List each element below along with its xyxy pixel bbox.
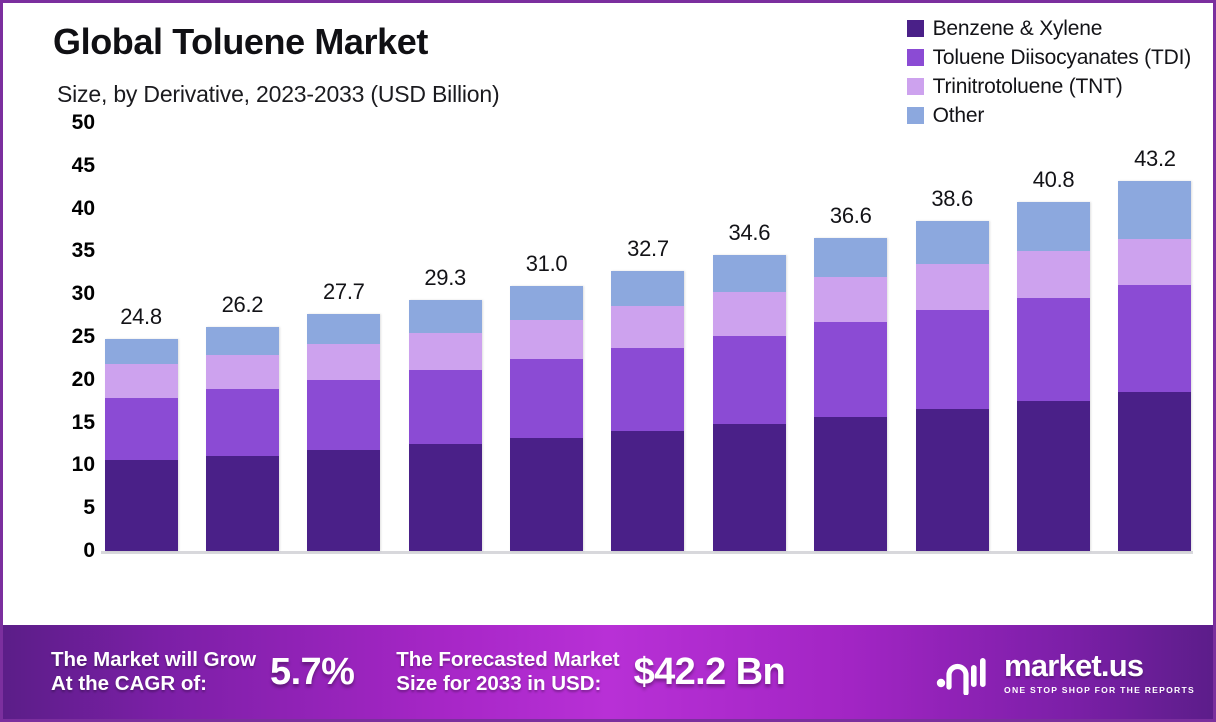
bar-segment	[1017, 401, 1090, 551]
bar-segment	[916, 264, 989, 310]
bar-stack	[1017, 202, 1090, 551]
y-axis-tick-label: 35	[72, 239, 95, 263]
cagr-caption: The Market will Grow At the CAGR of:	[51, 648, 256, 696]
legend-item[interactable]: Trinitrotoluene (TNT)	[907, 73, 1123, 100]
x-axis-baseline	[101, 551, 1193, 554]
bar-segment	[1017, 202, 1090, 252]
legend-swatch-icon	[907, 78, 924, 95]
legend-label: Toluene Diisocyanates (TDI)	[933, 46, 1191, 70]
bar-segment	[611, 431, 684, 551]
brand-logo[interactable]: market.us ONE STOP SHOP FOR THE REPORTS	[935, 649, 1195, 695]
forecast-size-caption: The Forecasted Market Size for 2033 in U…	[396, 648, 619, 696]
bar-segment	[814, 322, 887, 416]
footer-banner: The Market will Grow At the CAGR of: 5.7…	[3, 625, 1213, 719]
chart-plot-area: 05101520253035404550 24.826.227.729.331.…	[3, 123, 1213, 618]
bar-segment	[1017, 298, 1090, 401]
bar-series-container: 24.826.227.729.331.032.734.636.638.640.8…	[103, 123, 1193, 551]
bar-stack	[409, 300, 482, 551]
bar-total-label: 40.8	[1033, 167, 1075, 193]
brand-wordmark: market.us ONE STOP SHOP FOR THE REPORTS	[1004, 650, 1195, 695]
bar-column[interactable]: 36.6	[813, 123, 889, 551]
bar-total-label: 38.6	[931, 186, 973, 212]
y-axis-tick-label: 15	[72, 411, 95, 435]
bar-total-label: 31.0	[526, 251, 568, 277]
bar-segment	[1118, 285, 1191, 392]
bar-segment	[307, 344, 380, 380]
bar-segment	[409, 300, 482, 333]
bar-total-label: 29.3	[424, 265, 466, 291]
bar-total-label: 43.2	[1134, 146, 1176, 172]
cagr-value: 5.7%	[270, 651, 354, 694]
bar-segment	[409, 370, 482, 444]
brand-tagline: ONE STOP SHOP FOR THE REPORTS	[1004, 685, 1195, 695]
bar-segment	[510, 438, 583, 551]
bar-stack	[105, 339, 178, 551]
y-axis-tick-label: 45	[72, 154, 95, 178]
bar-segment	[1118, 392, 1191, 551]
bar-segment	[409, 333, 482, 371]
chart-legend: Benzene & XyleneToluene Diisocyanates (T…	[907, 15, 1191, 129]
bar-stack	[307, 314, 380, 551]
legend-item[interactable]: Benzene & Xylene	[907, 15, 1103, 42]
chart-subtitle: Size, by Derivative, 2023-2033 (USD Bill…	[57, 81, 499, 108]
bar-segment	[916, 310, 989, 408]
bar-column[interactable]: 32.7	[610, 123, 686, 551]
bar-segment	[713, 292, 786, 337]
bar-total-label: 34.6	[729, 220, 771, 246]
bar-segment	[916, 409, 989, 551]
bar-segment	[814, 238, 887, 277]
bar-column[interactable]: 43.2	[1117, 123, 1193, 551]
legend-label: Trinitrotoluene (TNT)	[933, 75, 1123, 99]
bar-segment	[1118, 239, 1191, 284]
forecast-size-value: $42.2 Bn	[634, 651, 786, 694]
page-title: Global Toluene Market	[53, 21, 428, 63]
bar-column[interactable]: 31.0	[509, 123, 585, 551]
bar-segment	[611, 271, 684, 306]
chart-infographic: Global Toluene Market Size, by Derivativ…	[0, 0, 1216, 722]
bar-segment	[307, 380, 380, 450]
brand-name: market.us	[1004, 650, 1195, 681]
bar-column[interactable]: 26.2	[204, 123, 280, 551]
bar-segment	[713, 336, 786, 424]
bar-segment	[713, 424, 786, 551]
y-axis: 05101520253035404550	[43, 123, 95, 558]
bar-stack	[611, 271, 684, 551]
bar-segment	[105, 339, 178, 365]
bar-segment	[814, 417, 887, 551]
bar-total-label: 26.2	[222, 292, 264, 318]
bar-total-label: 32.7	[627, 236, 669, 262]
y-axis-tick-label: 40	[72, 197, 95, 221]
y-axis-tick-label: 10	[72, 453, 95, 477]
forecast-size-caption-line1: The Forecasted Market	[396, 648, 619, 672]
bar-column[interactable]: 38.6	[914, 123, 990, 551]
legend-swatch-icon	[907, 20, 924, 37]
bar-segment	[916, 221, 989, 265]
cagr-caption-line2: At the CAGR of:	[51, 672, 256, 696]
cagr-caption-line1: The Market will Grow	[51, 648, 256, 672]
bar-segment	[1017, 251, 1090, 298]
bar-stack	[713, 255, 786, 551]
legend-item[interactable]: Toluene Diisocyanates (TDI)	[907, 44, 1191, 71]
bar-stack	[1118, 181, 1191, 551]
bar-segment	[409, 444, 482, 551]
legend-swatch-icon	[907, 49, 924, 66]
y-axis-tick-label: 0	[83, 539, 95, 563]
bar-stack	[916, 221, 989, 551]
y-axis-tick-label: 20	[72, 368, 95, 392]
bar-column[interactable]: 40.8	[1016, 123, 1092, 551]
bar-segment	[510, 286, 583, 320]
legend-swatch-icon	[907, 107, 924, 124]
bar-segment	[510, 320, 583, 359]
bar-segment	[206, 327, 279, 355]
forecast-size-caption-line2: Size for 2033 in USD:	[396, 672, 619, 696]
bar-segment	[206, 456, 279, 551]
bar-total-label: 36.6	[830, 203, 872, 229]
bar-segment	[105, 364, 178, 397]
bar-total-label: 24.8	[120, 304, 162, 330]
bar-column[interactable]: 27.7	[306, 123, 382, 551]
bar-column[interactable]: 24.8	[103, 123, 179, 551]
bar-segment	[713, 255, 786, 292]
bar-segment	[307, 450, 380, 551]
y-axis-tick-label: 25	[72, 325, 95, 349]
bar-column[interactable]: 29.3	[407, 123, 483, 551]
bar-segment	[105, 398, 178, 460]
bar-segment	[814, 277, 887, 322]
bar-total-label: 27.7	[323, 279, 365, 305]
bar-segment	[206, 355, 279, 389]
market-us-logo-icon	[935, 649, 993, 695]
bar-column[interactable]: 34.6	[711, 123, 787, 551]
forecast-size-block: The Forecasted Market Size for 2033 in U…	[396, 648, 785, 696]
bar-segment	[1118, 181, 1191, 239]
legend-label: Benzene & Xylene	[933, 17, 1103, 41]
cagr-block: The Market will Grow At the CAGR of: 5.7…	[51, 648, 354, 696]
bar-stack	[814, 238, 887, 551]
bar-segment	[105, 460, 178, 551]
y-axis-tick-label: 50	[72, 111, 95, 135]
bar-stack	[510, 286, 583, 551]
bar-segment	[611, 348, 684, 431]
bar-stack	[206, 327, 279, 551]
y-axis-tick-label: 30	[72, 282, 95, 306]
bar-segment	[510, 359, 583, 438]
bar-segment	[307, 314, 380, 344]
bar-segment	[206, 389, 279, 456]
y-axis-tick-label: 5	[83, 496, 95, 520]
bar-segment	[611, 306, 684, 348]
